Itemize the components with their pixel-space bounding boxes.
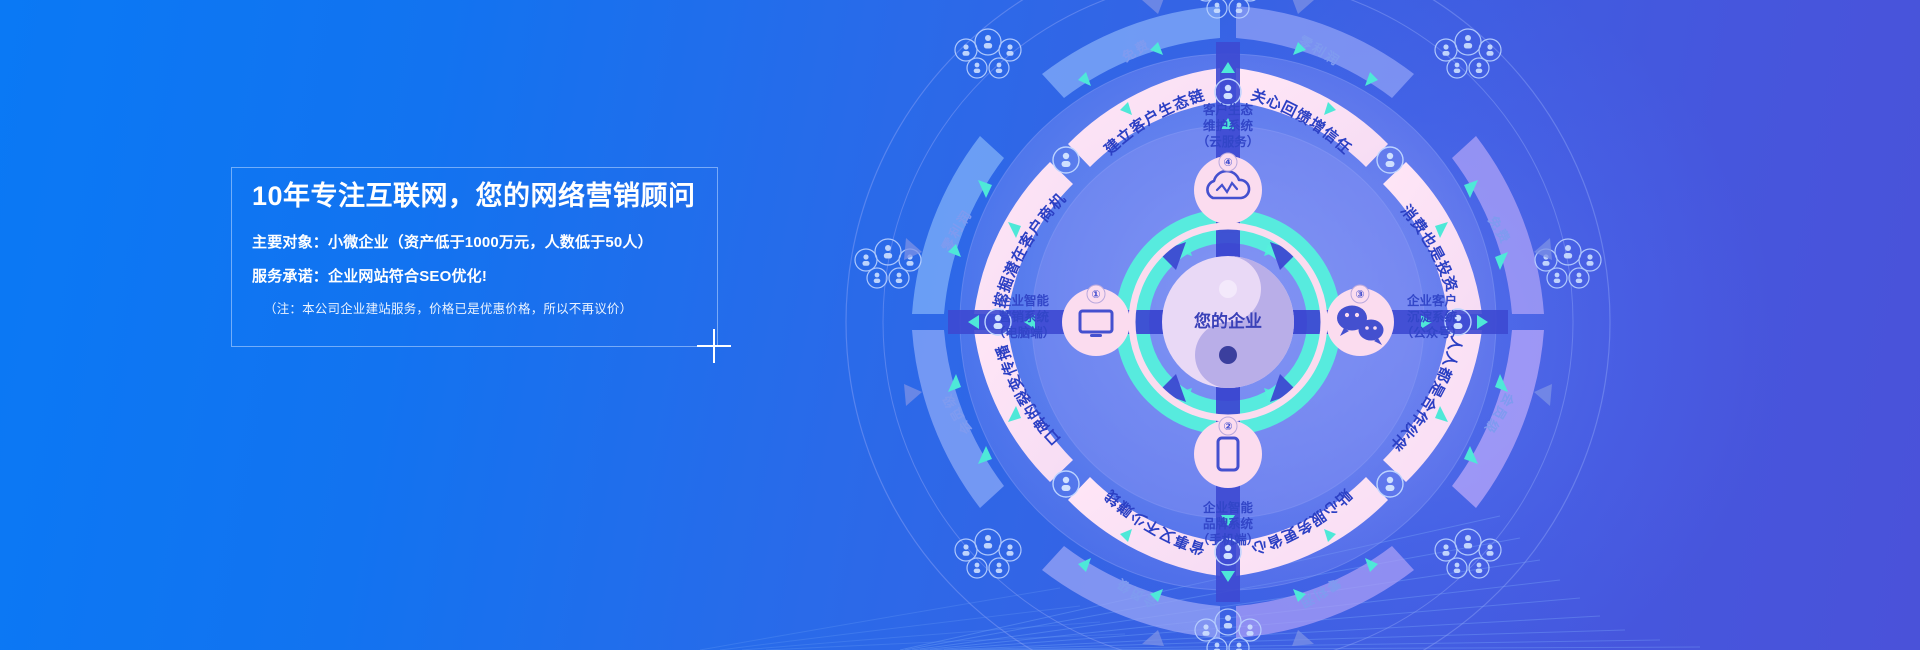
- yin-yang-icon: 您的企业: [1162, 256, 1294, 388]
- node-2-line3: （手机端）: [1197, 532, 1260, 547]
- node-4-line3: （云服务）: [1197, 134, 1260, 149]
- price-note: （注：本公司企业建站服务，价格已是优惠价格，所以不再议价）: [264, 302, 722, 317]
- node-3-line1: 企业客户: [1406, 293, 1457, 308]
- node-3-number: ③: [1355, 289, 1364, 301]
- wheel-svg: 免费 零利润 免费 会员级 零利润 会员级 会员级 零利润: [828, 0, 1628, 650]
- node-4-line1: 客户生态: [1202, 102, 1254, 117]
- node-3-line2: 沉淀系统: [1407, 309, 1458, 324]
- node-3-line3: （公众号）: [1401, 325, 1464, 340]
- node-1-line2: 营销系统: [999, 309, 1050, 324]
- node-4-line2: 维护系统: [1203, 118, 1254, 133]
- node-1-number: ①: [1091, 289, 1100, 301]
- node-2-number: ②: [1223, 421, 1232, 433]
- node-4-number: ④: [1223, 157, 1232, 169]
- audience-line: 主要对象：小微企业（资产低于1000万元，人数低于50人）: [252, 234, 722, 252]
- page-title: 10年专注互联网，您的网络营销顾问: [252, 182, 722, 212]
- node-2-line2: 品牌系统: [1203, 516, 1254, 531]
- node-2-line1: 企业智能: [1202, 500, 1254, 515]
- wheel-center-label: 您的企业: [1194, 311, 1262, 331]
- promo-text-group: 10年专注互联网，您的网络营销顾问 主要对象：小微企业（资产低于1000万元，人…: [252, 182, 722, 317]
- marketing-ecosystem-wheel: 免费 零利润 免费 会员级 零利润 会员级 会员级 零利润: [828, 0, 1628, 650]
- promise-line: 服务承诺：企业网站符合SEO优化!: [252, 268, 722, 286]
- node-1-line1: 企业智能: [998, 293, 1050, 308]
- node-1-line3: （电脑端）: [993, 325, 1056, 340]
- hero-banner: 10年专注互联网，您的网络营销顾问 主要对象：小微企业（资产低于1000万元，人…: [0, 0, 1920, 650]
